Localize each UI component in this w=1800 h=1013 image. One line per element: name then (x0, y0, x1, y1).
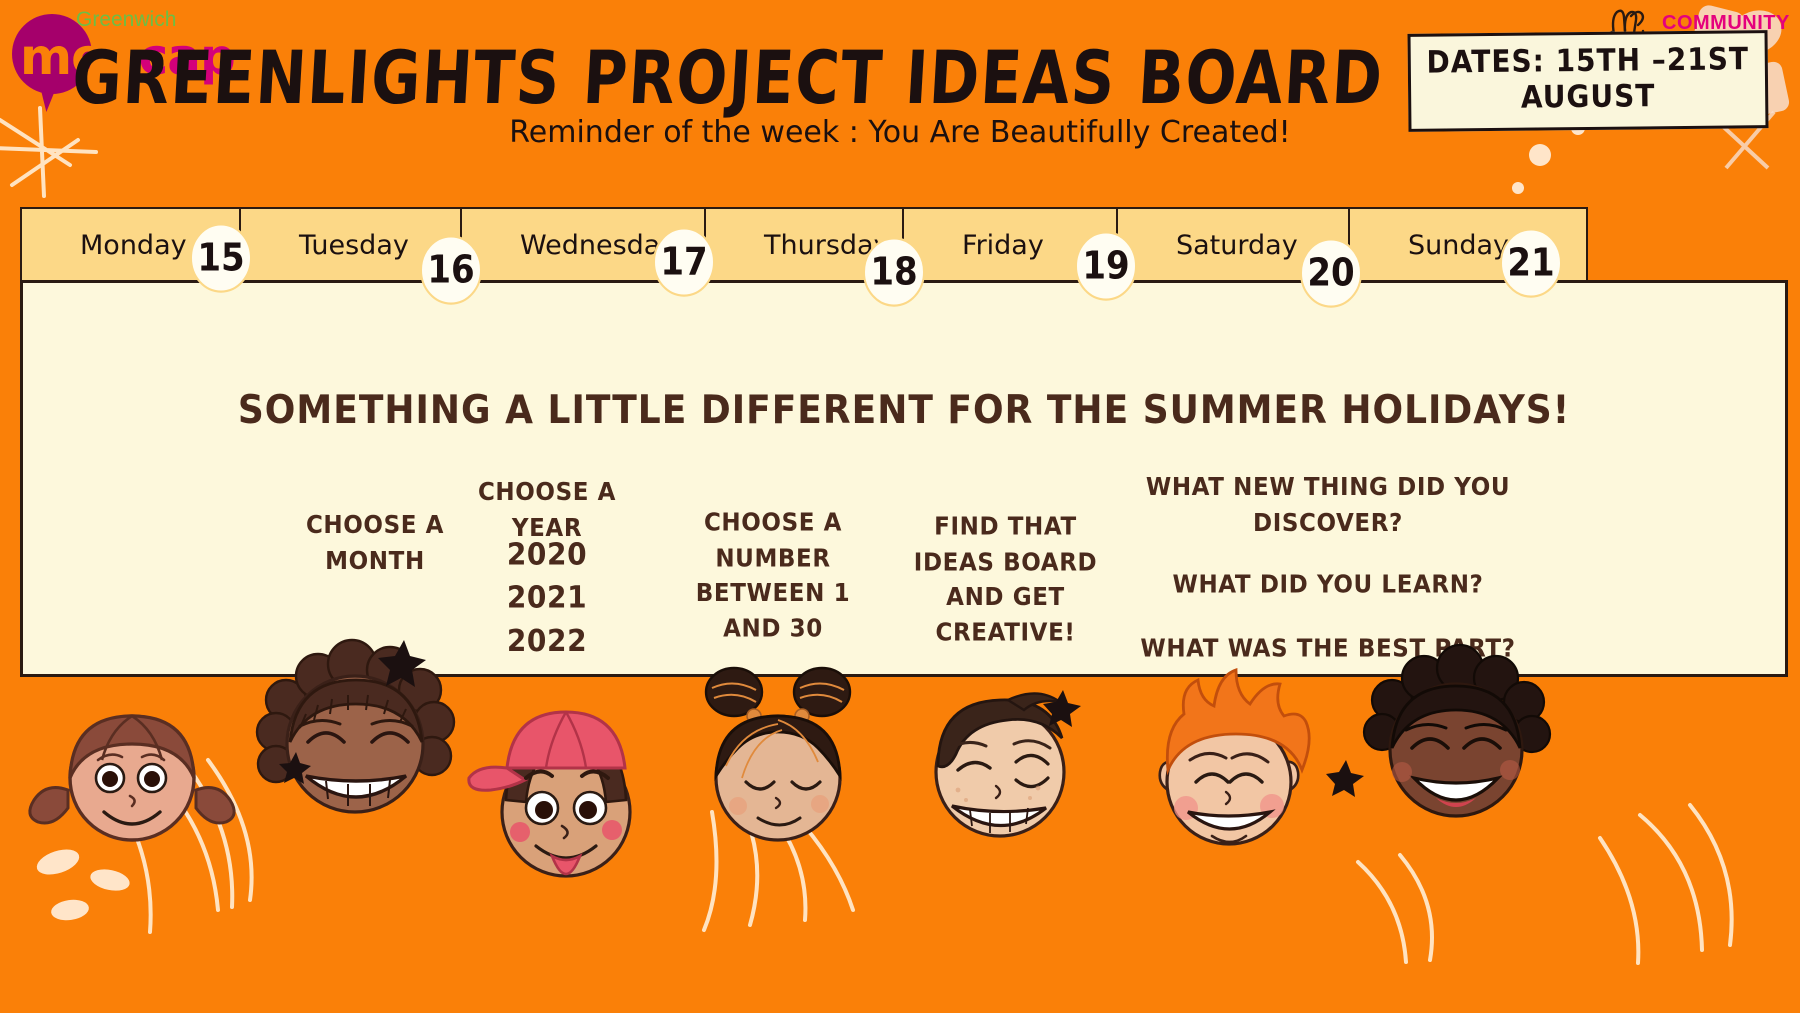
day-tab-strip: Monday 15 Tuesday 16 Wednesday 17 Thursd… (20, 207, 1788, 282)
day-tab-label: Sunday (1350, 230, 1509, 261)
day-tab-label: Wednesday (462, 230, 676, 261)
find-board-text: FIND THAT IDEAS BOARD AND GET CREATIVE! (913, 510, 1098, 651)
page-header: Greenwich mencap COMMUNITY FUND GREENLIG… (0, 0, 1800, 196)
day-tab-label: Thursday (706, 230, 890, 261)
day-number-badge-21: 21 (1500, 228, 1562, 297)
face-girl-braided-buns (706, 668, 850, 840)
reflection-question-3: WHAT WAS THE BEST PART? (1118, 632, 1538, 667)
ideas-panel: SOMETHING A LITTLE DIFFERENT FOR THE SUM… (20, 280, 1788, 677)
face-boy-orange-spiky-hair (1160, 670, 1309, 844)
day-number-badge-16: 16 (420, 235, 482, 304)
choose-month-text: CHOOSE A MONTH (295, 508, 455, 579)
face-girl-brown-hair-pigtails (30, 716, 234, 840)
day-number-badge-19: 19 (1075, 231, 1137, 300)
face-boy-dark-quiff-winking (936, 693, 1064, 836)
face-kid-red-cap-tongue-out (469, 712, 630, 876)
year-options-list: 2020 2021 2022 (447, 533, 647, 662)
day-number-badge-15: 15 (190, 223, 252, 292)
panel-heading: SOMETHING A LITTLE DIFFERENT FOR THE SUM… (23, 386, 1785, 437)
day-number-badge-18: 18 (863, 237, 925, 306)
choose-number-text: CHOOSE A NUMBER BETWEEN 1 AND 30 (683, 506, 863, 647)
page-title: GREENLIGHTS PROJECT IDEAS BOARD 2022 (70, 36, 1581, 121)
dates-box: DATES: 15TH –21ST AUGUST (1407, 30, 1768, 131)
reflection-question-1: WHAT NEW THING DID YOU DISCOVER? (1118, 470, 1538, 541)
day-tab-label: Friday (904, 230, 1044, 261)
dates-line-2: AUGUST (1421, 75, 1755, 118)
reflection-question-2: WHAT DID YOU LEARN? (1118, 568, 1538, 603)
day-number-badge-17: 17 (653, 227, 715, 296)
day-number-badge-20: 20 (1300, 238, 1362, 307)
day-tab-label: Tuesday (241, 230, 409, 261)
week-board: Monday 15 Tuesday 16 Wednesday 17 Thursd… (20, 207, 1788, 677)
day-tab-label: Saturday (1118, 230, 1298, 261)
day-tab-label: Monday (22, 230, 187, 261)
